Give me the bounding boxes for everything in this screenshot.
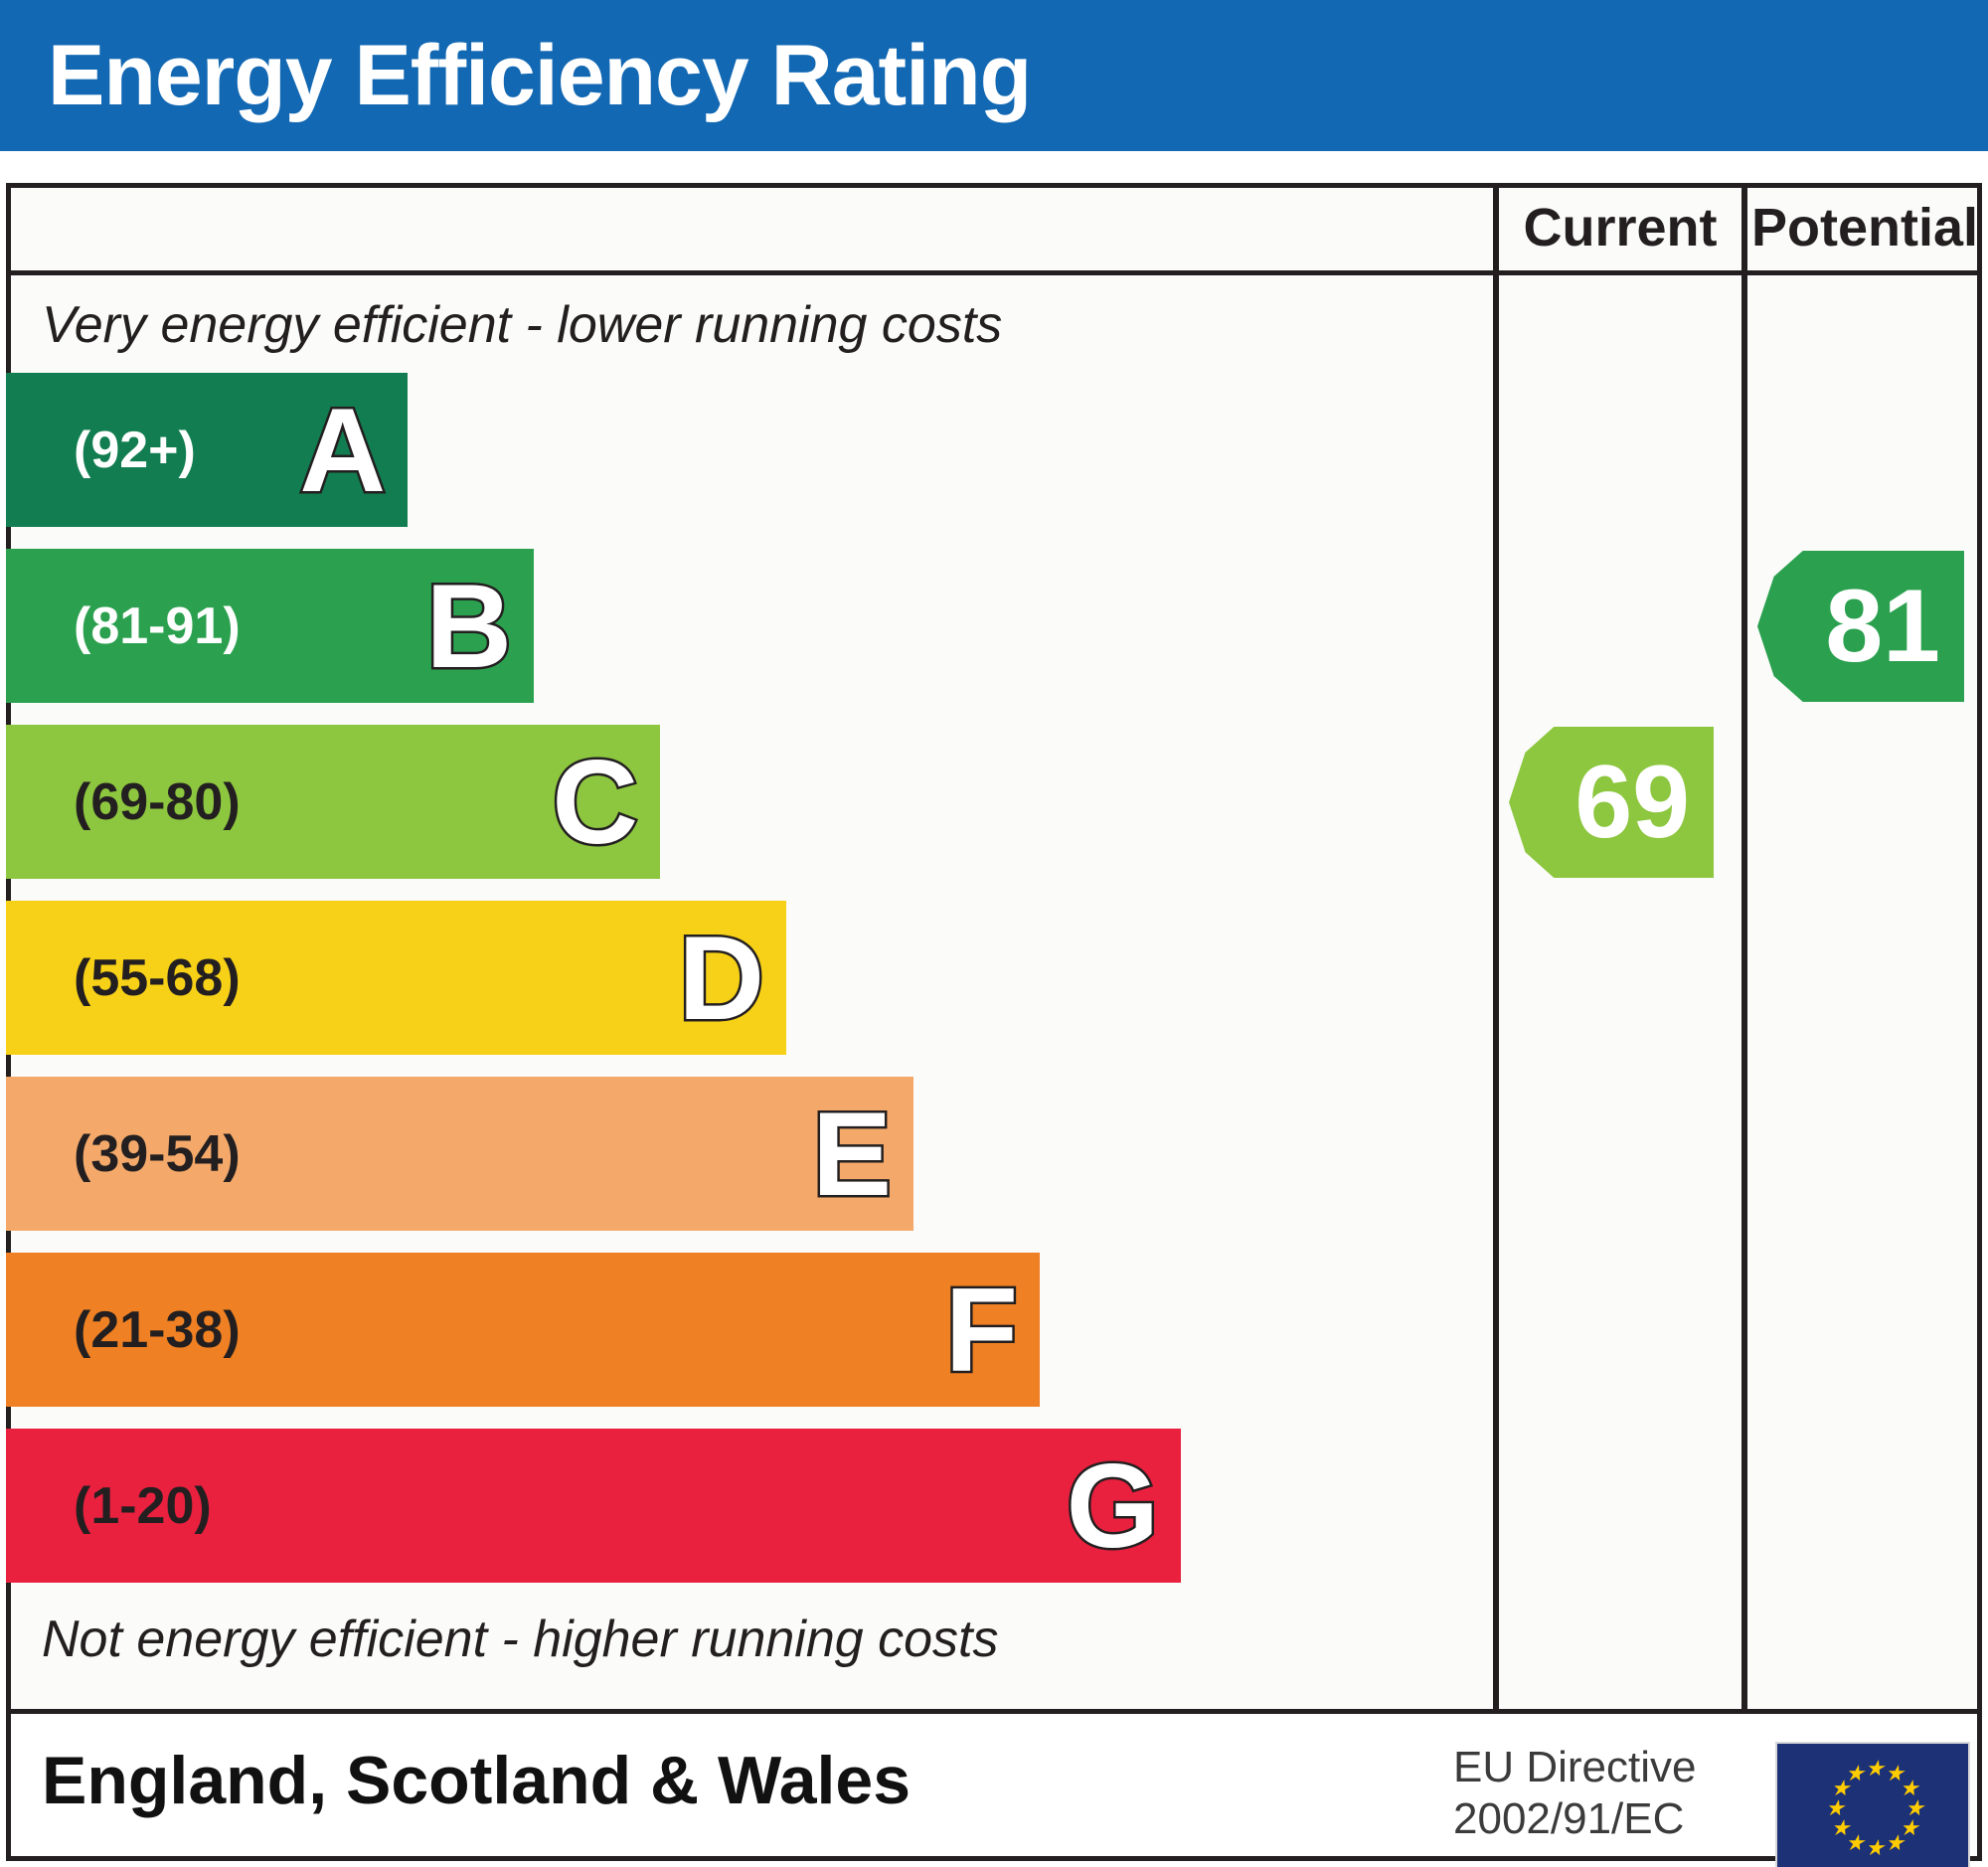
band-letter-d: D (678, 919, 764, 1038)
band-range-e: (39-54) (74, 1125, 241, 1183)
column-header-potential: Potential (1747, 195, 1982, 260)
band-a: (92+)A (6, 373, 408, 527)
band-letter-f: F (945, 1271, 1018, 1390)
potential-rating-marker: 81 (1757, 551, 1964, 702)
band-range-g: (1-20) (74, 1477, 212, 1535)
eu-directive-line-2: 2002/91/EC (1453, 1793, 1697, 1845)
band-letter-e: E (812, 1095, 892, 1214)
band-f: (21-38)F (6, 1253, 1040, 1407)
band-b: (81-91)B (6, 549, 534, 703)
band-c: (69-80)C (6, 725, 660, 879)
band-range-b: (81-91) (74, 597, 241, 655)
title-bar: Energy Efficiency Rating (0, 0, 1988, 151)
current-rating-marker-value: 69 (1574, 751, 1690, 854)
band-letter-g: G (1067, 1446, 1159, 1566)
column-divider-current-potential (1741, 183, 1747, 1714)
column-divider-scale-current (1493, 183, 1499, 1714)
band-letter-b: B (425, 567, 512, 686)
potential-rating-marker-value: 81 (1825, 575, 1940, 678)
column-header-current: Current (1499, 195, 1741, 260)
eu-flag-icon (1775, 1742, 1970, 1867)
band-range-c: (69-80) (74, 773, 241, 831)
current-rating-marker: 69 (1509, 727, 1714, 878)
header-separator-current (1499, 270, 1741, 275)
eu-directive-text: EU Directive 2002/91/EC (1453, 1742, 1697, 1845)
eu-directive-line-1: EU Directive (1453, 1742, 1697, 1793)
band-range-d: (55-68) (74, 949, 241, 1007)
band-e: (39-54)E (6, 1077, 913, 1231)
caption-bottom: Not energy efficient - higher running co… (42, 1609, 999, 1670)
energy-efficiency-rating-chart: Energy Efficiency Rating Current Potenti… (0, 0, 1988, 1867)
band-g: (1-20)G (6, 1429, 1181, 1583)
caption-top: Very energy efficient - lower running co… (42, 294, 1002, 356)
band-range-f: (21-38) (74, 1301, 241, 1359)
header-separator-potential (1747, 270, 1982, 275)
band-letter-c: C (552, 743, 638, 862)
footer-region-label: England, Scotland & Wales (42, 1738, 911, 1823)
band-letter-a: A (299, 391, 386, 510)
header-separator (6, 270, 1495, 275)
band-d: (55-68)D (6, 901, 786, 1055)
band-range-a: (92+) (74, 422, 196, 479)
page-title: Energy Efficiency Rating (48, 24, 1031, 128)
